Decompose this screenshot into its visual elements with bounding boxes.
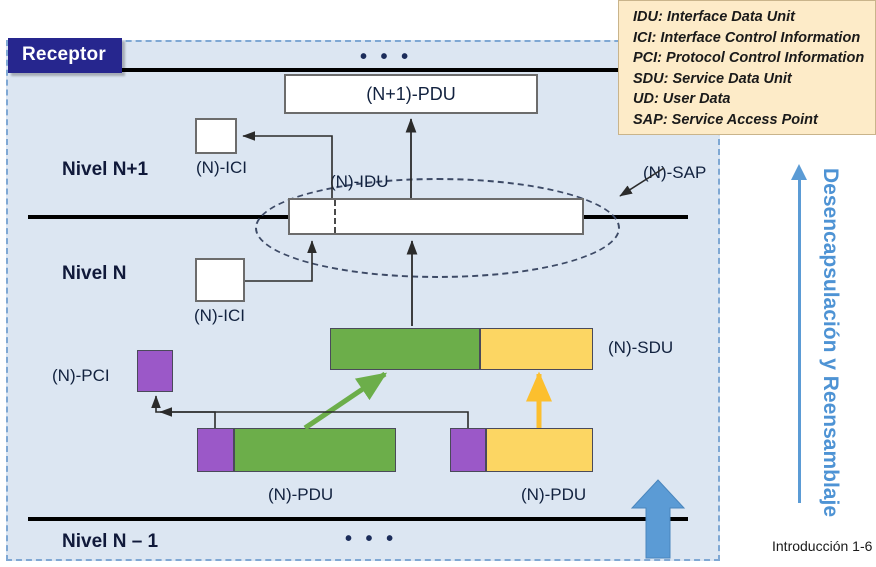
pdu-right-pci-segment — [450, 428, 486, 472]
sap-label: (N)-SAP — [643, 163, 706, 183]
pdu-left-label: (N)-PDU — [268, 485, 333, 505]
sdu-yellow-segment — [480, 328, 593, 370]
sdu-label: (N)-SDU — [608, 338, 673, 358]
abbreviations-legend: IDU: Interface Data Unit ICI: Interface … — [618, 0, 876, 135]
receptor-diagram-panel — [6, 40, 720, 561]
legend-item: SDU: Service Data Unit — [633, 69, 867, 90]
legend-item: UD: User Data — [633, 89, 867, 110]
pci-label: (N)-PCI — [52, 366, 110, 386]
ellipsis-top: • • • — [360, 46, 412, 69]
side-arrow-shaft — [798, 178, 801, 503]
slide-footer: Introducción 1-6 — [772, 538, 872, 554]
pdu-right-payload-segment — [486, 428, 593, 472]
pdu-left-payload-segment — [234, 428, 396, 472]
ici-box-middle — [195, 258, 245, 302]
idu-divider — [334, 200, 336, 233]
level-label-n-minus-1: Nivel N – 1 — [62, 531, 158, 553]
ellipsis-bottom: • • • — [345, 528, 397, 551]
side-caption: Desencapsulación y Reensamblaje — [818, 168, 842, 517]
level-label-n-plus-1: Nivel N+1 — [62, 159, 148, 181]
layer-line-lower — [28, 517, 688, 521]
pci-extracted-block — [137, 350, 173, 392]
ici-middle-label: (N)-ICI — [194, 306, 245, 326]
ici-box-upper — [195, 118, 237, 154]
layer-line-upper — [28, 68, 688, 72]
legend-item: ICI: Interface Control Information — [633, 28, 867, 49]
receptor-badge: Receptor — [8, 38, 122, 73]
level-label-n: Nivel N — [62, 263, 126, 285]
decapsulation-block-arrow — [630, 478, 686, 560]
legend-item: SAP: Service Access Point — [633, 110, 867, 131]
pdu-n-plus-1-label: (N+1)-PDU — [366, 84, 456, 105]
legend-item: PCI: Protocol Control Information — [633, 48, 867, 69]
sdu-green-segment — [330, 328, 480, 370]
idu-label: (N)-IDU — [330, 172, 389, 192]
pdu-left-pci-segment — [197, 428, 234, 472]
pdu-right-label: (N)-PDU — [521, 485, 586, 505]
ici-upper-label: (N)-ICI — [196, 158, 247, 178]
idu-box — [288, 198, 584, 235]
pdu-n-plus-1-box: (N+1)-PDU — [284, 74, 538, 114]
legend-item: IDU: Interface Data Unit — [633, 7, 867, 28]
